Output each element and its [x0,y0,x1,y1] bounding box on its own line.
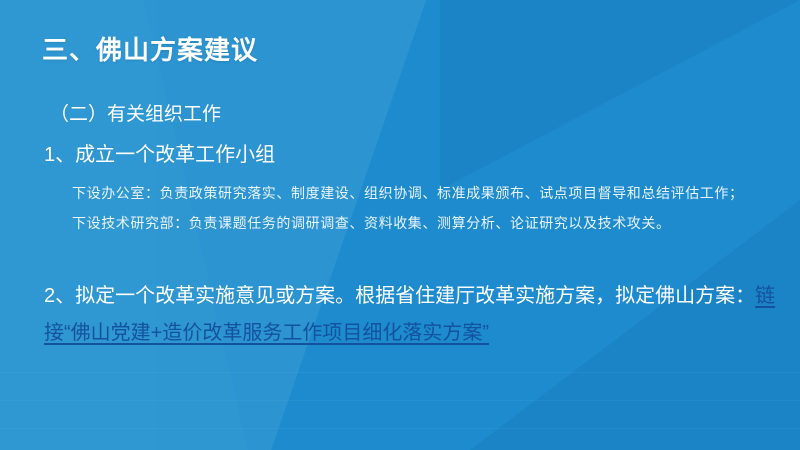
numbered-point-1: 1、成立一个改革工作小组 [44,138,275,167]
body-paragraph: 下设办公室：负责政策研究落实、制度建设、组织协调、标准成果颁布、试点项目督导和总… [44,182,774,208]
section-subheading: （二）有关组织工作 [50,99,221,126]
numbered-point-2: 2、拟定一个改革实施意见或方案。根据省住建厅改革实施方案，拟定佛山方案：链接“佛… [44,278,784,352]
body-text-block: 下设办公室：负责政策研究落实、制度建设、组织协调、标准成果颁布、试点项目督导和总… [44,182,774,238]
body-paragraph: 下设技术研究部：负责课题任务的调研调查、资料收集、测算分析、论证研究以及技术攻关… [44,212,774,238]
page-title: 三、佛山方案建议 [42,30,258,67]
slide-content: 三、佛山方案建议 （二）有关组织工作 1、成立一个改革工作小组 下设办公室：负责… [0,0,800,450]
slide: 三、佛山方案建议 （二）有关组织工作 1、成立一个改革工作小组 下设办公室：负责… [0,0,800,450]
numbered-point-2-text: 2、拟定一个改革实施意见或方案。根据省住建厅改革实施方案，拟定佛山方案： [44,285,755,307]
